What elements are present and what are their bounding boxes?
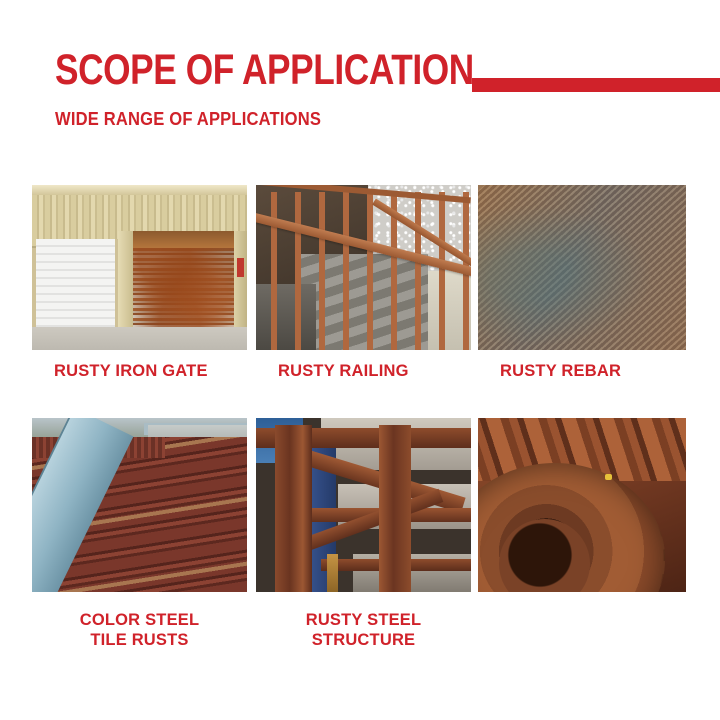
color-steel-tile-rusts-photo: [32, 418, 247, 592]
rusty-column-left: [275, 425, 312, 592]
gallery-item-rusty-railing[interactable]: RUSTY RAILING: [256, 185, 471, 350]
concrete-ground: [32, 327, 247, 350]
gallery-caption: COLOR STEEL TILE RUSTS: [32, 610, 247, 650]
gallery-item-rusty-rebar[interactable]: RUSTY REBAR: [478, 185, 686, 350]
railing-balusters: [256, 192, 471, 350]
rusty-iron-gate-photo: [32, 185, 247, 350]
gallery-caption: RUSTY RAILING: [256, 361, 471, 381]
gallery-item-mechanical-rust[interactable]: MECHANICAL RUST: [478, 418, 686, 592]
gallery-caption: RUSTY IRON GATE: [32, 361, 247, 381]
rusty-column-right: [379, 425, 411, 592]
rusty-railing-photo: [256, 185, 471, 350]
yellow-support: [327, 554, 338, 592]
scope-of-application-page: SCOPE OF APPLICATION WIDE RANGE OF APPLI…: [0, 0, 720, 720]
application-gallery: RUSTY IRON GATE RUSTY RAILING: [0, 0, 720, 720]
mechanical-rust-photo: [478, 418, 686, 592]
rusty-steel-structure-photo: [256, 418, 471, 592]
roof-edge: [32, 185, 247, 195]
highlight-spark: [605, 474, 612, 480]
gallery-item-rusty-iron-gate[interactable]: RUSTY IRON GATE: [32, 185, 247, 350]
gallery-caption: RUSTY REBAR: [478, 361, 686, 381]
door-lintel: [133, 231, 236, 248]
gallery-item-rusty-steel-structure[interactable]: RUSTY STEEL STRUCTURE: [256, 418, 471, 592]
gallery-item-color-steel-tile-rusts[interactable]: COLOR STEEL TILE RUSTS: [32, 418, 247, 592]
rust-tint-overlay: [478, 185, 686, 350]
rusty-rebar-photo: [478, 185, 686, 350]
gallery-caption: RUSTY STEEL STRUCTURE: [256, 610, 471, 650]
red-wall-fixture: [237, 258, 243, 278]
